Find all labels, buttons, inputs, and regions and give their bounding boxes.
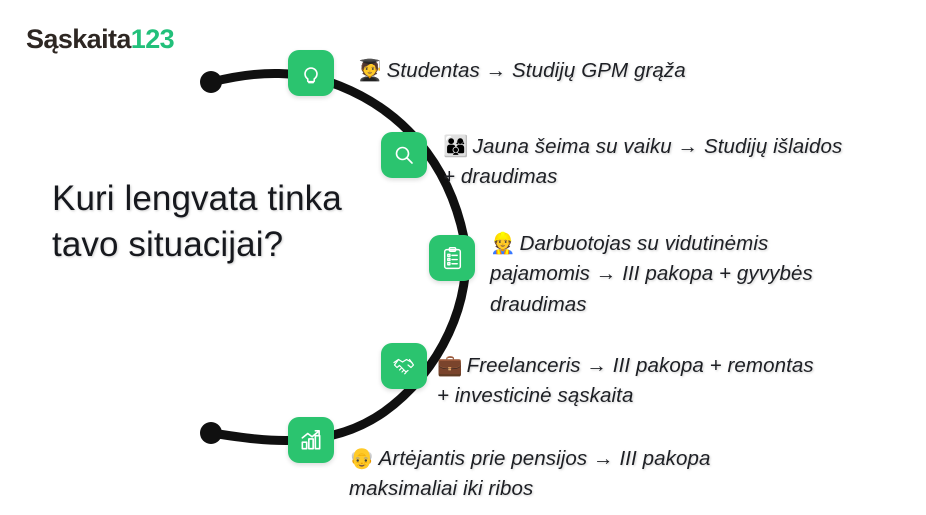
item-label: Studentas → Studijų GPM grąža	[387, 59, 686, 82]
page-title: Kuri lengvata tinka tavo situacijai?	[52, 176, 352, 267]
arc-end-dot	[200, 422, 222, 444]
item-emoji: 🧑‍🎓	[357, 59, 383, 82]
clipboard-checklist-icon	[440, 246, 465, 271]
slide-canvas: Sąskaita123 Kuri lengvata tinka tavo sit…	[0, 0, 926, 515]
brand-logo-word: Sąskaita	[26, 24, 131, 54]
bar-chart-growth-icon	[298, 427, 324, 453]
step-tile-2[interactable]	[381, 132, 427, 178]
step-tile-5[interactable]	[288, 417, 334, 463]
brand-logo: Sąskaita123	[26, 26, 174, 53]
item-emoji: 👨‍👩‍👦	[443, 135, 469, 158]
arc-start-dot	[200, 71, 222, 93]
item-label: Freelanceris → III pakopa + remontas + i…	[437, 354, 814, 407]
item-emoji: 👷	[490, 232, 516, 255]
item-label: Jauna šeima su vaiku → Studijų išlaidos …	[443, 135, 842, 188]
list-item: 👴Artėjantis prie pensijos → III pakopa m…	[349, 444, 799, 505]
list-item: 🧑‍🎓Studentas → Studijų GPM grąža	[357, 56, 797, 86]
item-label: Artėjantis prie pensijos → III pakopa ma…	[349, 447, 711, 500]
lightbulb-icon	[298, 60, 324, 86]
list-item: 💼Freelanceris → III pakopa + remontas + …	[437, 351, 827, 412]
item-emoji: 👴	[349, 447, 375, 470]
brand-logo-number: 123	[131, 24, 174, 54]
item-label: Darbuotojas su vidutinėmis pajamomis → I…	[490, 232, 813, 316]
magnifier-icon	[392, 143, 416, 167]
handshake-icon	[390, 352, 418, 380]
step-tile-1[interactable]	[288, 50, 334, 96]
step-tile-4[interactable]	[381, 343, 427, 389]
item-emoji: 💼	[437, 354, 463, 377]
step-tile-3[interactable]	[429, 235, 475, 281]
list-item: 👷Darbuotojas su vidutinėmis pajamomis → …	[490, 229, 855, 320]
list-item: 👨‍👩‍👦Jauna šeima su vaiku → Studijų išla…	[443, 132, 843, 193]
